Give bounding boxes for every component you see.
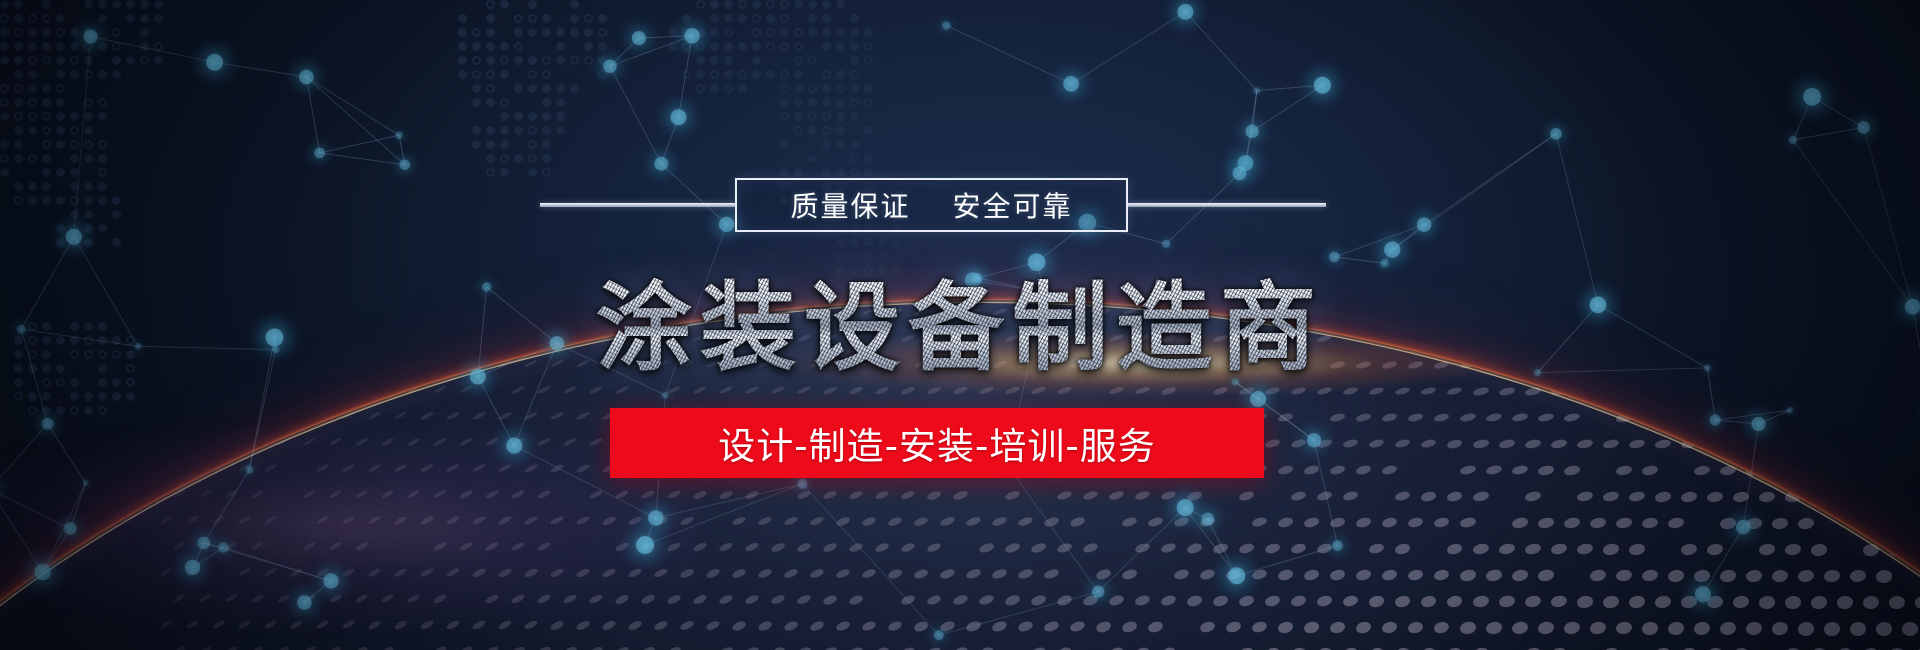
banner-content: 质量保证 安全可靠 涂装设备制造商 涂装设备制造商 涂装设备制造商 设计-制造-… <box>0 0 1920 650</box>
hero-banner: 质量保证 安全可靠 涂装设备制造商 涂装设备制造商 涂装设备制造商 设计-制造-… <box>0 0 1920 650</box>
eyebrow-item-quality: 质量保证 <box>790 185 910 225</box>
page-title: 涂装设备制造商 <box>0 278 1920 379</box>
rule-left-icon <box>540 203 736 207</box>
tagline-text: 设计-制造-安装-培训-服务 <box>718 416 1155 470</box>
eyebrow-row: 质量保证 安全可靠 <box>0 178 1920 232</box>
eyebrow-text-group: 质量保证 安全可靠 <box>790 185 1072 225</box>
rule-right-icon <box>1128 203 1326 207</box>
tagline-banner: 设计-制造-安装-培训-服务 <box>610 408 1264 478</box>
eyebrow-box: 质量保证 安全可靠 <box>735 178 1128 232</box>
eyebrow-item-safety: 安全可靠 <box>953 185 1073 225</box>
